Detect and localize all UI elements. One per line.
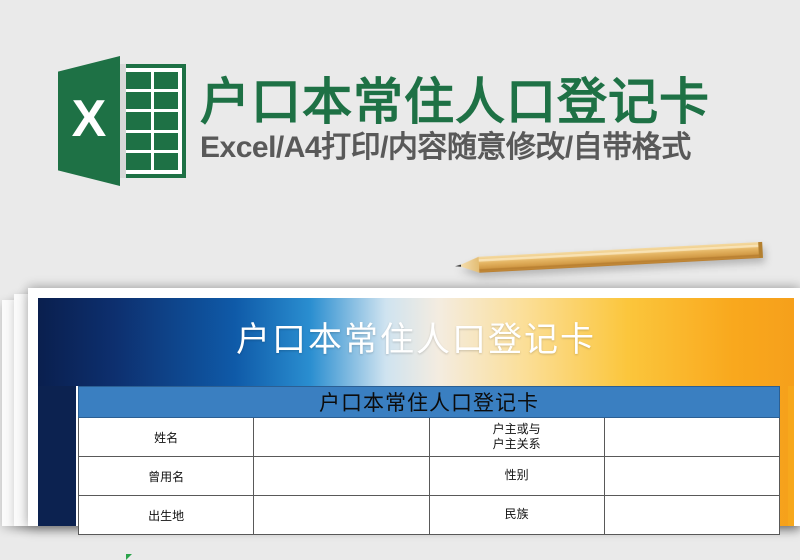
excel-logo-cell [154, 133, 179, 150]
table-title-cell: 户口本常住人口登记卡 [79, 387, 780, 418]
page-subtitle: Excel/A4打印/内容随意修改/自带格式 [200, 131, 710, 166]
table-row[interactable]: 出生地 民族 [79, 496, 780, 535]
registration-table: 户口本常住人口登记卡 姓名 户主或与 户主关系 曾用名 性别 [78, 386, 780, 535]
promo-header-banner: X 户口本常住人口登记卡 Excel/A4打印/内容随意修改/自带格式 [0, 0, 800, 240]
row-smalllabel-gender: 性别 [429, 457, 604, 496]
smalllabel-line2: 户主关系 [430, 437, 604, 452]
excel-logo-cell [154, 153, 179, 170]
smalllabel-line1: 户主或与 [430, 422, 604, 437]
excel-logo-cell [126, 112, 151, 129]
excel-logo-cell [126, 153, 151, 170]
table-row[interactable]: 姓名 户主或与 户主关系 [79, 418, 780, 457]
table-header-row: 户口本常住人口登记卡 [79, 387, 780, 418]
document-preview: 户口本常住人口登记卡 户口本常住人口登记卡 姓名 户主或与 户主关系 [28, 288, 800, 526]
spreadsheet-area[interactable]: 户口本常住人口登记卡 姓名 户主或与 户主关系 曾用名 性别 [76, 386, 780, 526]
gradient-left-rail [38, 386, 76, 526]
row-smalllabel-ethnicity: 民族 [429, 496, 604, 535]
excel-logo-cell [126, 92, 151, 109]
excel-logo-cell [154, 72, 179, 89]
row-value2-householder[interactable] [604, 418, 779, 457]
row-label-formername: 曾用名 [79, 457, 254, 496]
excel-logo-sheet [118, 64, 186, 178]
pencil-icon [454, 240, 765, 276]
excel-logo-cell [154, 92, 179, 109]
row-label-name: 姓名 [79, 418, 254, 457]
excel-logo-cell [154, 112, 179, 129]
gradient-right-rail [788, 386, 794, 526]
row-smalllabel-householder: 户主或与 户主关系 [429, 418, 604, 457]
excel-logo-cell [126, 72, 151, 89]
row-value-formername[interactable] [254, 457, 429, 496]
title-block: 户口本常住人口登记卡 Excel/A4打印/内容随意修改/自带格式 [200, 76, 710, 166]
row-value2-gender[interactable] [604, 457, 779, 496]
table-row[interactable]: 曾用名 性别 [79, 457, 780, 496]
row-value-name[interactable] [254, 418, 429, 457]
document-banner-title: 户口本常住人口登记卡 [38, 312, 794, 361]
logo-lockup: X 户口本常住人口登记卡 Excel/A4打印/内容随意修改/自带格式 [58, 56, 710, 186]
cell-comment-marker-icon [126, 554, 132, 560]
excel-logo-icon: X [58, 56, 190, 186]
excel-logo-cell [126, 133, 151, 150]
excel-logo-grid [126, 72, 178, 170]
row-value-birthplace[interactable] [254, 496, 429, 535]
page-title: 户口本常住人口登记卡 [200, 76, 710, 129]
row-label-birthplace: 出生地 [79, 496, 254, 535]
excel-logo-letter: X [58, 56, 120, 186]
row-value2-ethnicity[interactable] [604, 496, 779, 535]
